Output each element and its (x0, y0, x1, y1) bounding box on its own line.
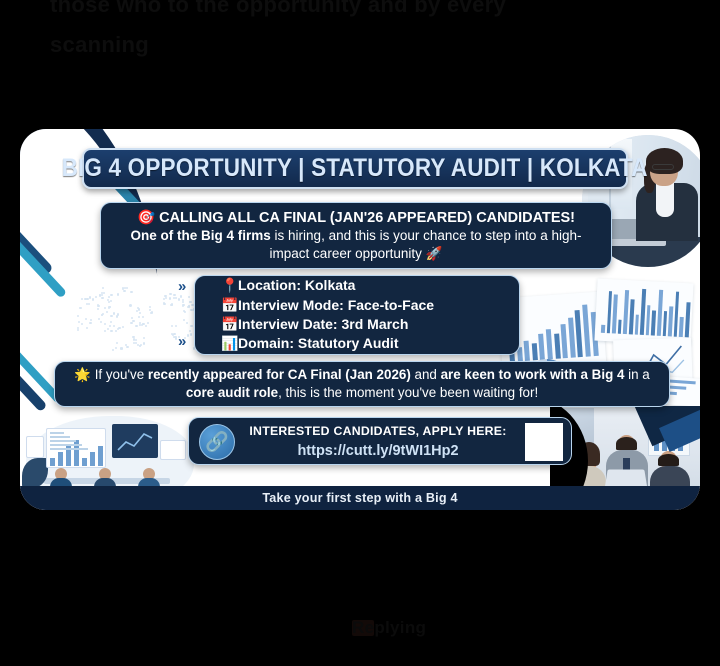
eligibility-part-4: , this is the moment you've been waiting… (278, 385, 538, 400)
eligibility-part-3: in a (624, 367, 649, 382)
dart-target-icon: 🎯 (137, 210, 155, 226)
detail-value: Face-to-Face (348, 297, 434, 313)
job-details-box: 📍Location: Kolkata 📅Interview Mode: Face… (194, 275, 520, 355)
eligibility-bold-1: recently appeared for CA Final (Jan 2026… (148, 367, 411, 382)
calendar-icon: 📅 (221, 315, 238, 334)
detail-row-domain: 📊Domain: Statutory Audit (221, 334, 519, 353)
eligibility-text: 🌟 If you've recently appeared for CA Fin… (67, 366, 657, 402)
detail-row-interview-date: 📅Interview Date: 3rd March (221, 315, 519, 334)
screenshot-root: those who to the opportunity and by ever… (0, 0, 720, 666)
eligibility-box: 🌟 If you've recently appeared for CA Fin… (54, 361, 670, 407)
detail-row-interview-mode: 📅Interview Mode: Face-to-Face (221, 296, 519, 315)
detail-value: 3rd March (341, 316, 408, 332)
background-text-line-2: scanning (50, 32, 149, 58)
detail-value: Kolkata (305, 277, 356, 293)
eligibility-bold-2: are keen to work with a Big 4 (441, 367, 625, 382)
apply-link-box[interactable]: 🔗 INTERESTED CANDIDATES, APPLY HERE: htt… (188, 417, 572, 465)
qr-code-icon[interactable] (525, 423, 563, 461)
calling-candidates-box: 🎯 CALLING ALL CA FINAL (JAN'26 APPEARED)… (100, 202, 612, 269)
rocket-icon: 🚀 (426, 246, 443, 261)
background-text-bottom: Replying (352, 618, 426, 638)
apply-text-group: INTERESTED CANDIDATES, APPLY HERE: https… (243, 422, 513, 460)
detail-label: Interview Date: (238, 316, 338, 332)
banner-title: BIG 4 OPPORTUNITY | STATUTORY AUDIT | KO… (82, 148, 628, 189)
apply-heading: INTERESTED CANDIDATES, APPLY HERE: (243, 422, 513, 442)
chevron-decoration: » (178, 278, 186, 295)
detail-label: Interview Mode: (238, 297, 344, 313)
calling-headline: 🎯 CALLING ALL CA FINAL (JAN'26 APPEARED)… (137, 209, 575, 227)
job-posting-creative: BIG 4 OPPORTUNITY | STATUTORY AUDIT | KO… (20, 129, 700, 510)
chain-link-icon: 🔗 (199, 424, 235, 460)
detail-label: Location: (238, 277, 301, 293)
eligibility-part-2: and (411, 367, 441, 382)
calling-subtext: One of the Big 4 firms is hiring, and th… (101, 227, 611, 262)
detail-label: Domain: (238, 335, 294, 351)
calendar-icon: 📅 (221, 296, 238, 315)
location-pin-icon: 📍 (221, 276, 238, 295)
chevron-decoration: » (178, 333, 186, 350)
star-burst-icon: 🌟 (74, 367, 91, 382)
eligibility-part-1: If you've (95, 367, 148, 382)
detail-value: Statutory Audit (298, 335, 399, 351)
banner-title-text: BIG 4 OPPORTUNITY | STATUTORY AUDIT | KO… (62, 154, 648, 183)
eligibility-bold-3: core audit role (186, 385, 278, 400)
detail-row-location: 📍Location: Kolkata (221, 276, 519, 295)
background-text-line-1: those who to the opportunity and by ever… (50, 0, 506, 18)
apply-url[interactable]: https://cutt.ly/9tWI1Hp2 (243, 442, 513, 460)
calling-subtext-strong: One of the Big 4 firms (131, 228, 271, 243)
bar-chart-icon: 📊 (221, 334, 238, 353)
footer-text: Take your first step with a Big 4 (262, 491, 457, 505)
calling-headline-text: CALLING ALL CA FINAL (JAN'26 APPEARED) C… (159, 210, 575, 226)
footer-bar: Take your first step with a Big 4 (20, 486, 700, 510)
